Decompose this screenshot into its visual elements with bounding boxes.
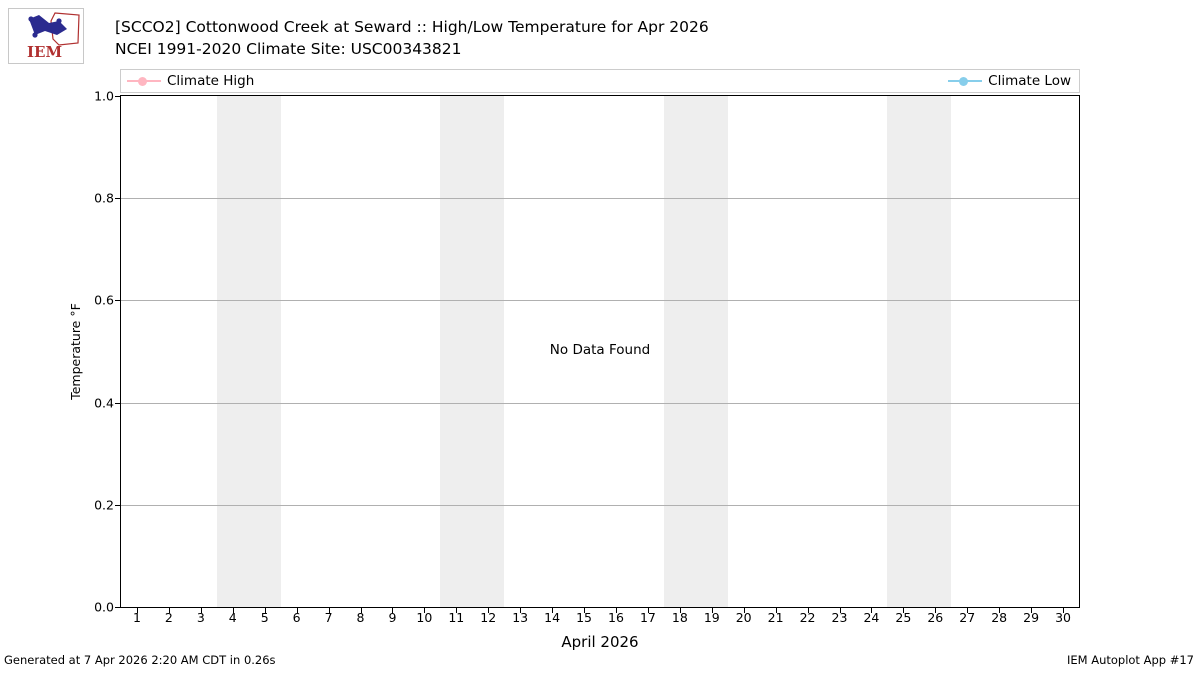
x-axis-tickmark: [201, 608, 202, 613]
y-axis-tickmark: [115, 403, 120, 404]
x-axis-tickmark: [808, 608, 809, 613]
x-axis-tickmark: [616, 608, 617, 613]
x-axis-label: April 2026: [120, 633, 1080, 651]
gridline: [121, 505, 1079, 506]
chart-title: [SCCO2] Cottonwood Creek at Seward :: Hi…: [115, 16, 1095, 38]
x-axis-tickmark: [265, 608, 266, 613]
y-axis-ticklabel: 0.8: [68, 191, 114, 206]
x-axis-tickmark: [967, 608, 968, 613]
footer-generated-text: Generated at 7 Apr 2026 2:20 AM CDT in 0…: [4, 653, 276, 667]
chart-page: IEM [SCCO2] Cottonwood Creek at Seward :…: [0, 0, 1200, 675]
x-axis-tickmark: [361, 608, 362, 613]
plot-area: No Data Found: [120, 95, 1080, 608]
x-axis-tickmark: [137, 608, 138, 613]
x-axis-tickmark: [1063, 608, 1064, 613]
chart-title-block: [SCCO2] Cottonwood Creek at Seward :: Hi…: [115, 16, 1095, 60]
x-axis-tickmark: [744, 608, 745, 613]
y-axis-ticklabels: 0.00.20.40.60.81.0: [66, 95, 114, 608]
y-axis-ticklabel: 1.0: [68, 89, 114, 104]
no-data-annotation: No Data Found: [121, 342, 1079, 358]
chart-subtitle: NCEI 1991-2020 Climate Site: USC00343821: [115, 38, 1095, 60]
x-axis-tickmark: [169, 608, 170, 613]
legend-item-climate-high[interactable]: Climate High: [127, 70, 254, 92]
x-axis-tickmark: [840, 608, 841, 613]
legend-label-climate-low: Climate Low: [988, 73, 1071, 89]
x-axis-tickmark: [456, 608, 457, 613]
x-axis-tickmarks: [120, 608, 1080, 614]
svg-text:IEM: IEM: [27, 43, 62, 61]
y-axis-ticklabel: 0.2: [68, 497, 114, 512]
footer-app-text: IEM Autoplot App #17: [1067, 653, 1194, 667]
y-axis-tickmark: [115, 505, 120, 506]
legend-marker-climate-high: [127, 75, 161, 87]
x-axis-tickmark: [871, 608, 872, 613]
chart-legend: Climate High Climate Low: [120, 69, 1080, 93]
legend-item-climate-low[interactable]: Climate Low: [948, 70, 1071, 92]
x-axis-tickmark: [424, 608, 425, 613]
y-axis-tickmark: [115, 198, 120, 199]
x-axis-tickmark: [329, 608, 330, 613]
gridline: [121, 198, 1079, 199]
x-axis-tickmark: [520, 608, 521, 613]
y-axis-tickmark: [115, 300, 120, 301]
x-axis-tickmark: [999, 608, 1000, 613]
x-axis-tickmark: [392, 608, 393, 613]
x-axis-tickmark: [488, 608, 489, 613]
gridline: [121, 300, 1079, 301]
y-axis-ticklabel: 0.0: [68, 600, 114, 615]
x-axis-tickmark: [584, 608, 585, 613]
x-axis-tickmark: [935, 608, 936, 613]
x-axis-tickmark: [903, 608, 904, 613]
legend-marker-climate-low: [948, 75, 982, 87]
x-axis-tickmark: [648, 608, 649, 613]
y-axis-tickmark: [115, 96, 120, 97]
x-axis-tickmark: [712, 608, 713, 613]
y-axis-ticklabel: 0.4: [68, 395, 114, 410]
x-axis-tickmark: [680, 608, 681, 613]
x-axis-tickmark: [233, 608, 234, 613]
x-axis-tickmark: [1031, 608, 1032, 613]
iem-logo[interactable]: IEM: [8, 8, 84, 64]
x-axis-tickmark: [776, 608, 777, 613]
y-axis-ticklabel: 0.6: [68, 293, 114, 308]
legend-label-climate-high: Climate High: [167, 73, 254, 89]
x-axis-tickmark: [552, 608, 553, 613]
gridline: [121, 403, 1079, 404]
x-axis-tickmark: [297, 608, 298, 613]
y-axis-tickmarks: [115, 95, 121, 608]
